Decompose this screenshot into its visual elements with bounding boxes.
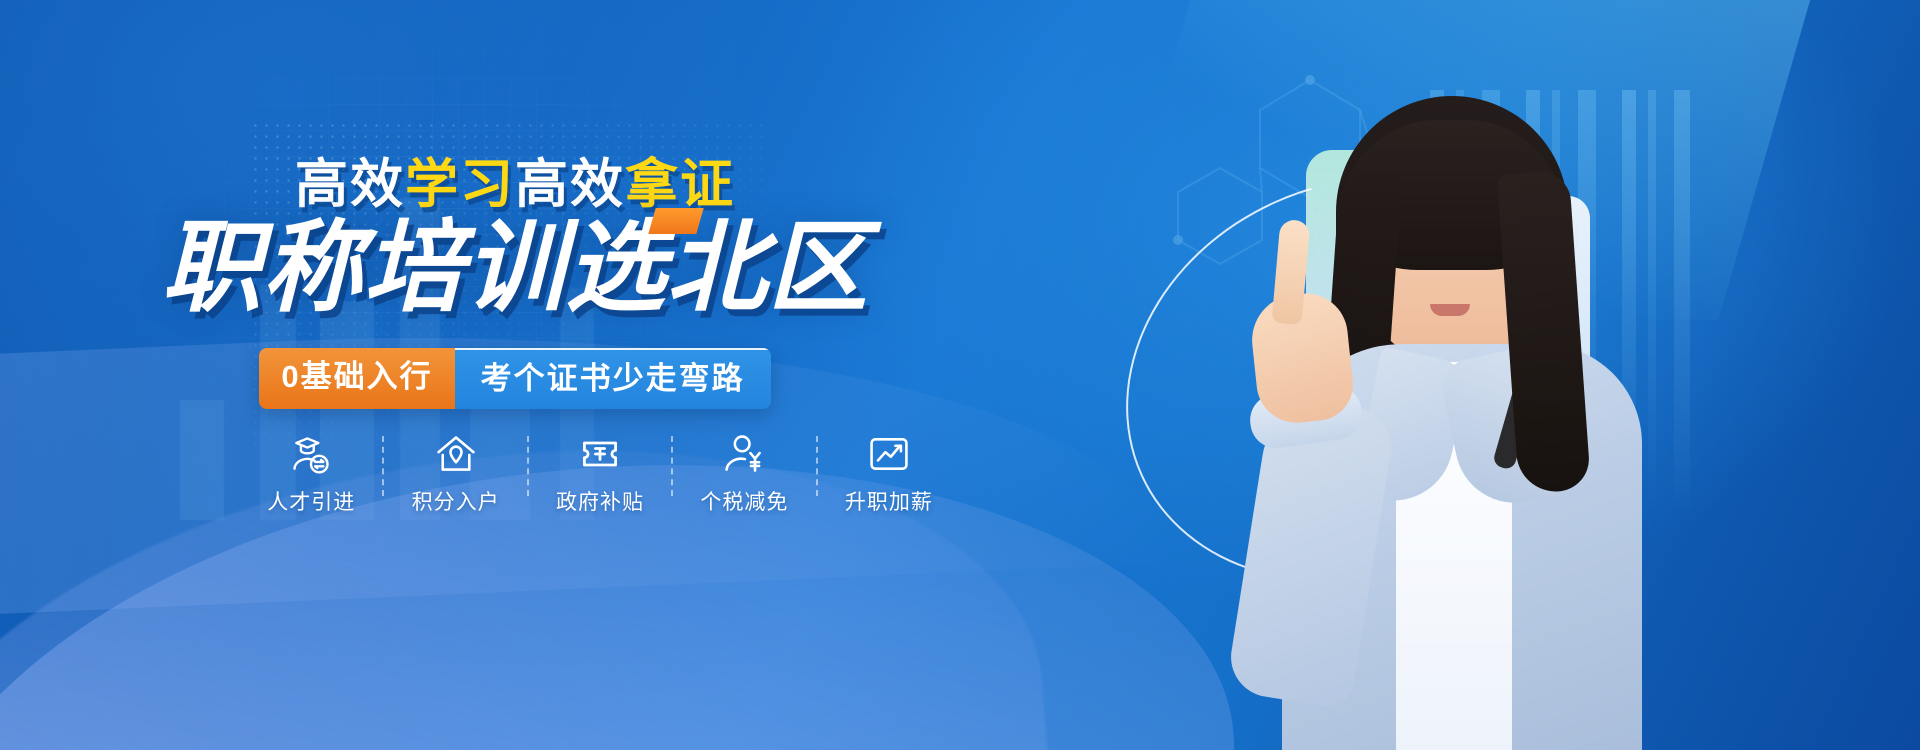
eyebrow-part-2: 高效 <box>515 155 625 214</box>
main-headline-text: 职称培训选北区 <box>162 212 869 324</box>
chart-growth-icon <box>867 432 911 476</box>
graduate-exchange-icon <box>289 432 333 476</box>
subsidy-ticket-icon <box>578 432 622 476</box>
eyebrow-highlight-1: 学习 <box>405 155 515 214</box>
tagline-badge: 0基础入行 <box>259 348 454 409</box>
feature-item-promotion-raise[interactable]: 升职加薪 <box>818 432 960 516</box>
person-yuan-icon <box>722 432 766 476</box>
hero-photo <box>1020 0 1920 750</box>
tagline-row: 0基础入行 考个证书少走弯路 <box>0 348 1030 409</box>
tagline-text: 考个证书少走弯路 <box>455 348 771 409</box>
feature-label: 积分入户 <box>412 486 500 516</box>
feature-label: 政府补贴 <box>556 486 644 516</box>
copy-block: 高效学习高效拿证 职称培训选北区 0基础入行 考个证书少走弯路 <box>0 0 1030 750</box>
feature-label: 个税减免 <box>700 486 788 516</box>
feature-item-points-residency[interactable]: 积分入户 <box>384 432 526 516</box>
main-headline: 职称培训选北区 <box>0 218 1030 318</box>
feature-item-government-subsidy[interactable]: 政府补贴 <box>529 432 671 516</box>
eyebrow-highlight-2: 拿证 <box>625 155 735 214</box>
feature-item-tax-reduction[interactable]: 个税减免 <box>673 432 815 516</box>
feature-item-talent-introduction[interactable]: 人才引进 <box>240 432 382 516</box>
house-location-pin-icon <box>434 432 478 476</box>
eyebrow-part-1: 高效 <box>295 155 405 214</box>
eyebrow-headline: 高效学习高效拿证 <box>0 158 1030 211</box>
feature-row: 人才引进 积分入户 <box>240 432 960 516</box>
promo-banner: 高效学习高效拿证 职称培训选北区 0基础入行 考个证书少走弯路 <box>0 0 1920 750</box>
headline-accent-mark <box>648 208 703 234</box>
feature-label: 人才引进 <box>267 486 355 516</box>
presenter-figure <box>1190 72 1710 750</box>
feature-label: 升职加薪 <box>845 486 933 516</box>
